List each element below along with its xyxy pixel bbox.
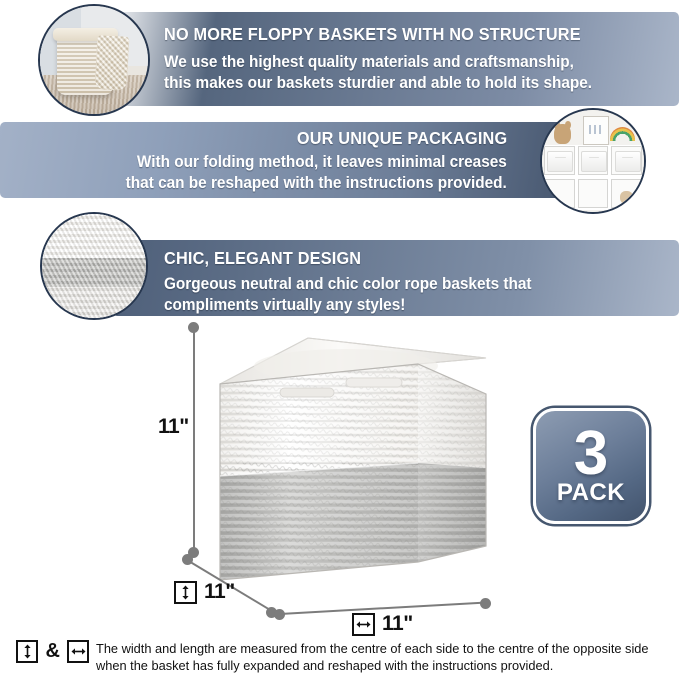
product-basket-illustration bbox=[196, 318, 496, 610]
width-endpoint-left bbox=[274, 609, 285, 620]
feature-body-line1: With our folding method, it leaves minim… bbox=[126, 152, 507, 173]
basket-handle-front bbox=[280, 388, 334, 397]
shelf-row-bottom bbox=[544, 179, 642, 208]
vertical-arrow-glyph bbox=[180, 585, 191, 600]
bathroom-basket-scene bbox=[40, 6, 148, 114]
feature-banner-structure: NO MORE FLOPPY BASKETS WITH NO STRUCTURE… bbox=[112, 12, 679, 106]
feature-heading-design: CHIC, ELEGANT DESIGN bbox=[164, 248, 361, 269]
shelf-row-top bbox=[544, 146, 642, 175]
teddy-bear bbox=[554, 124, 570, 143]
feature-banner-design: CHIC, ELEGANT DESIGN Gorgeous neutral an… bbox=[112, 240, 679, 316]
feature-body-line2: this makes our baskets sturdier and able… bbox=[164, 73, 592, 94]
vertical-double-arrow-icon bbox=[174, 581, 197, 604]
footnote-line1: The width and length are measured from t… bbox=[96, 640, 649, 657]
basket-svg bbox=[196, 318, 496, 610]
measurement-footnote: & The width and length are measured from… bbox=[16, 640, 666, 674]
horizontal-arrow-glyph bbox=[356, 619, 371, 630]
height-dimension-line bbox=[193, 330, 195, 552]
shelf-cell bbox=[611, 179, 642, 208]
pack-count-badge: 3 PACK bbox=[533, 408, 649, 524]
front-grey-texture bbox=[220, 463, 420, 588]
shelf-cell bbox=[578, 179, 609, 208]
width-dimension-label: 11" bbox=[352, 612, 413, 636]
storage-bin bbox=[547, 151, 573, 173]
depth-dimension-label: 11" bbox=[174, 580, 235, 604]
feature-body-packaging: With our folding method, it leaves minim… bbox=[126, 152, 507, 194]
storage-bin bbox=[581, 151, 607, 173]
feature-photo-design bbox=[40, 212, 148, 320]
infographic-canvas: NO MORE FLOPPY BASKETS WITH NO STRUCTURE… bbox=[0, 0, 679, 673]
width-endpoint-right bbox=[480, 598, 491, 609]
footnote-text: The width and length are measured from t… bbox=[96, 640, 649, 674]
rope-texture-macro bbox=[42, 214, 146, 318]
pack-count-number: 3 bbox=[574, 427, 608, 480]
feature-body-line1: Gorgeous neutral and chic color rope bas… bbox=[164, 274, 532, 295]
wall-art-frame bbox=[583, 116, 609, 145]
horizontal-double-arrow-icon bbox=[67, 640, 89, 663]
shelf-cell bbox=[544, 179, 575, 208]
feature-photo-packaging bbox=[540, 108, 646, 214]
vertical-arrow-glyph bbox=[22, 644, 33, 659]
books-stack bbox=[582, 188, 605, 204]
nursery-shelf-scene bbox=[542, 110, 644, 212]
width-value: 11" bbox=[382, 612, 413, 636]
feature-heading-packaging: OUR UNIQUE PACKAGING bbox=[297, 128, 507, 149]
plush-toy bbox=[620, 191, 634, 205]
footnote-ampersand: & bbox=[45, 640, 59, 663]
shelf-cell bbox=[544, 146, 575, 175]
waffle-towel bbox=[95, 35, 130, 91]
storage-bin bbox=[615, 151, 641, 173]
horizontal-double-arrow-icon bbox=[352, 613, 375, 636]
feature-body-line2: that can be reshaped with the instructio… bbox=[126, 173, 507, 194]
feature-photo-structure bbox=[38, 4, 150, 116]
feature-heading-structure: NO MORE FLOPPY BASKETS WITH NO STRUCTURE bbox=[164, 24, 581, 45]
depth-value: 11" bbox=[204, 580, 235, 604]
footnote-line2: when the basket has fully expanded and r… bbox=[96, 657, 649, 674]
feature-banner-packaging: OUR UNIQUE PACKAGING With our folding me… bbox=[0, 122, 567, 198]
height-endpoint-top bbox=[188, 322, 199, 333]
cube-shelf-unit bbox=[544, 145, 642, 210]
feature-body-structure: We use the highest quality materials and… bbox=[164, 52, 592, 94]
weave-overlay bbox=[42, 214, 146, 318]
feature-body-design: Gorgeous neutral and chic color rope bas… bbox=[164, 274, 532, 316]
shelf-cell bbox=[578, 146, 609, 175]
vertical-double-arrow-icon bbox=[16, 640, 38, 663]
feature-body-line2: compliments virtually any styles! bbox=[164, 295, 532, 316]
side-texture bbox=[418, 358, 490, 568]
books-stack bbox=[548, 188, 571, 204]
basket-handle-back bbox=[346, 378, 402, 387]
horizontal-arrow-glyph bbox=[71, 646, 86, 657]
shelf-cell bbox=[611, 146, 642, 175]
feature-body-line1: We use the highest quality materials and… bbox=[164, 52, 592, 73]
pack-count-word: PACK bbox=[557, 481, 625, 505]
height-dimension-label: 11" bbox=[158, 415, 189, 439]
depth-endpoint-top bbox=[182, 554, 193, 565]
